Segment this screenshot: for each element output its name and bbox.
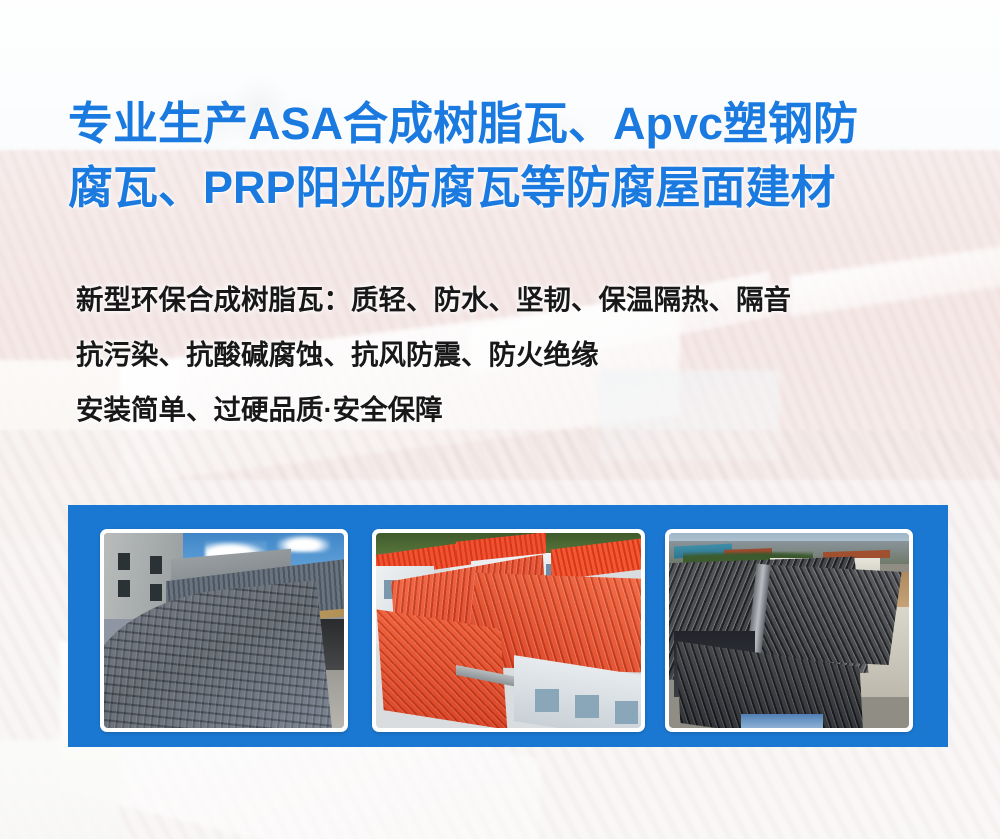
photo1-window-1: [118, 553, 130, 571]
photo2-window-front-1: [535, 689, 559, 712]
photo-black-resin-tile-roof: [669, 533, 909, 728]
photo-frame-black-roof[interactable]: [665, 529, 913, 732]
photo1-window-3: [150, 556, 162, 574]
photo-grey-resin-tile-roof: [104, 533, 344, 728]
photo2-base: [376, 533, 641, 728]
feature-line-3: 安装简单、过硬品质·安全保障: [76, 382, 976, 437]
photo1-window-4: [150, 584, 162, 602]
photo1-window-2: [118, 580, 130, 598]
feature-line-1: 新型环保合成树脂瓦：质轻、防水、坚韧、保温隔热、隔音: [76, 272, 976, 327]
photo2-main-red-roof-front-slope: [377, 609, 508, 728]
photo2-window-front-2: [575, 695, 599, 718]
feature-line-2: 抗污染、抗酸碱腐蚀、抗风防震、防火绝缘: [76, 327, 976, 382]
photo-frame-red-roof[interactable]: [372, 529, 645, 732]
photo3-base: [669, 533, 909, 728]
photo1-base: [104, 533, 344, 728]
photo-band: [68, 505, 948, 747]
feature-list: 新型环保合成树脂瓦：质轻、防水、坚韧、保温隔热、隔音 抗污染、抗酸碱腐蚀、抗风防…: [76, 272, 976, 437]
photo-frame-grey-roof[interactable]: [100, 529, 348, 732]
headline-line-1: 专业生产ASA合成树脂瓦、Apvc塑钢防: [68, 92, 968, 156]
headline: 专业生产ASA合成树脂瓦、Apvc塑钢防 腐瓦、PRP阳光防腐瓦等防腐屋面建材: [68, 92, 968, 220]
photo3-blue-tarp: [741, 714, 823, 728]
photo3-black-tile-roof-right: [758, 565, 901, 664]
headline-line-2: 腐瓦、PRP阳光防腐瓦等防腐屋面建材: [68, 156, 968, 220]
photo2-window-front-3: [615, 701, 639, 724]
photo-red-resin-tile-roof: [376, 533, 641, 728]
promo-banner: 专业生产ASA合成树脂瓦、Apvc塑钢防 腐瓦、PRP阳光防腐瓦等防腐屋面建材 …: [0, 0, 1000, 839]
